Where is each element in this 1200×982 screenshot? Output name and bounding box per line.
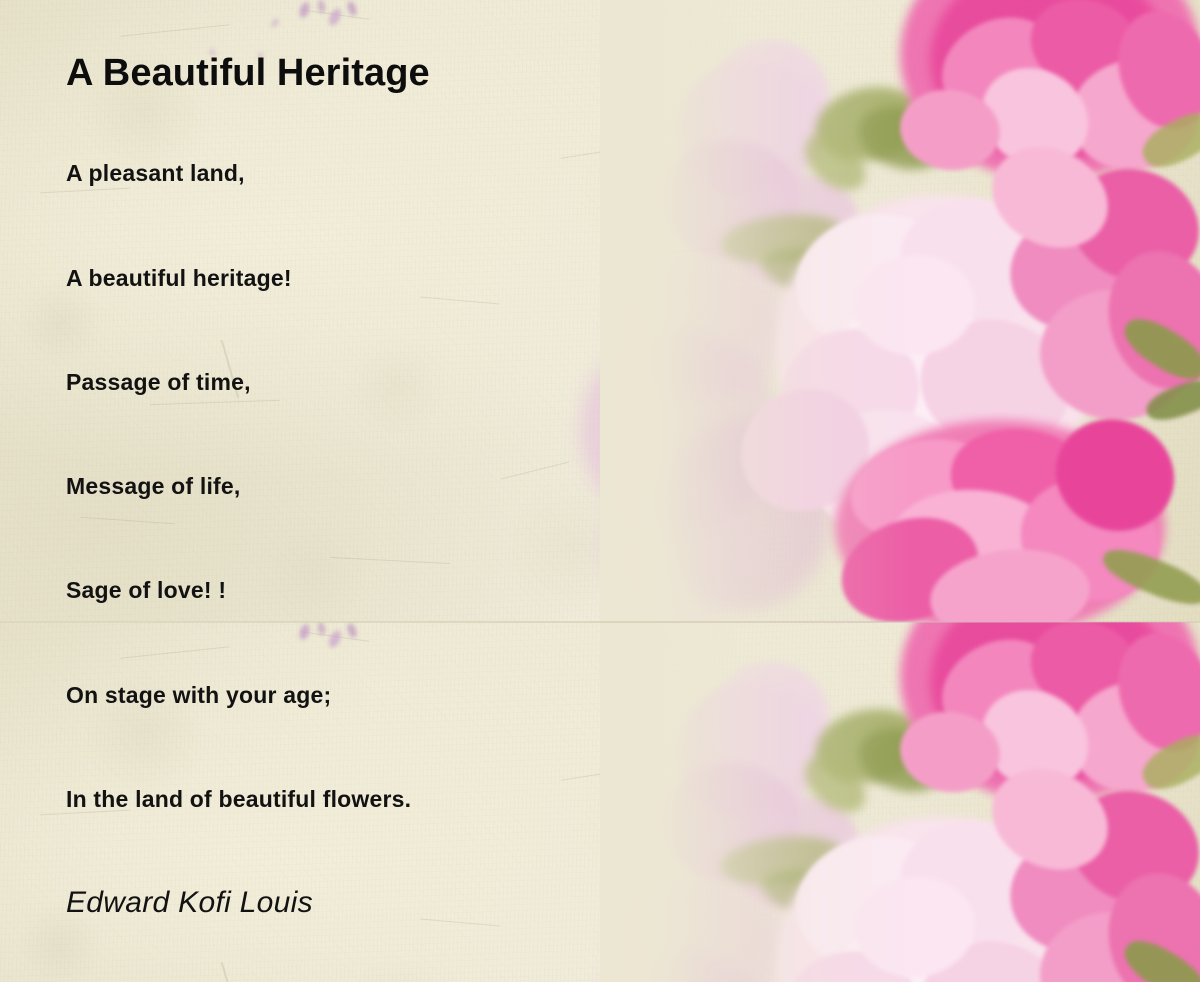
poem-line-3: Passage of time, [66,369,251,396]
poem-line-7: In the land of beautiful flowers. [66,786,411,813]
poem-line-2: A beautiful heritage! [66,265,292,292]
poem-line-6: On stage with your age; [66,682,331,709]
poem-author: Edward Kofi Louis [66,886,313,920]
poem-line-1: A pleasant land, [66,160,245,187]
poem-image-card: A Beautiful Heritage A pleasant land, A … [0,0,1200,982]
poem-line-4: Message of life, [66,473,240,500]
poem-text-layer: A Beautiful Heritage A pleasant land, A … [0,0,1200,982]
poem-title: A Beautiful Heritage [66,52,430,95]
poem-line-5: Sage of love! ! [66,577,226,604]
